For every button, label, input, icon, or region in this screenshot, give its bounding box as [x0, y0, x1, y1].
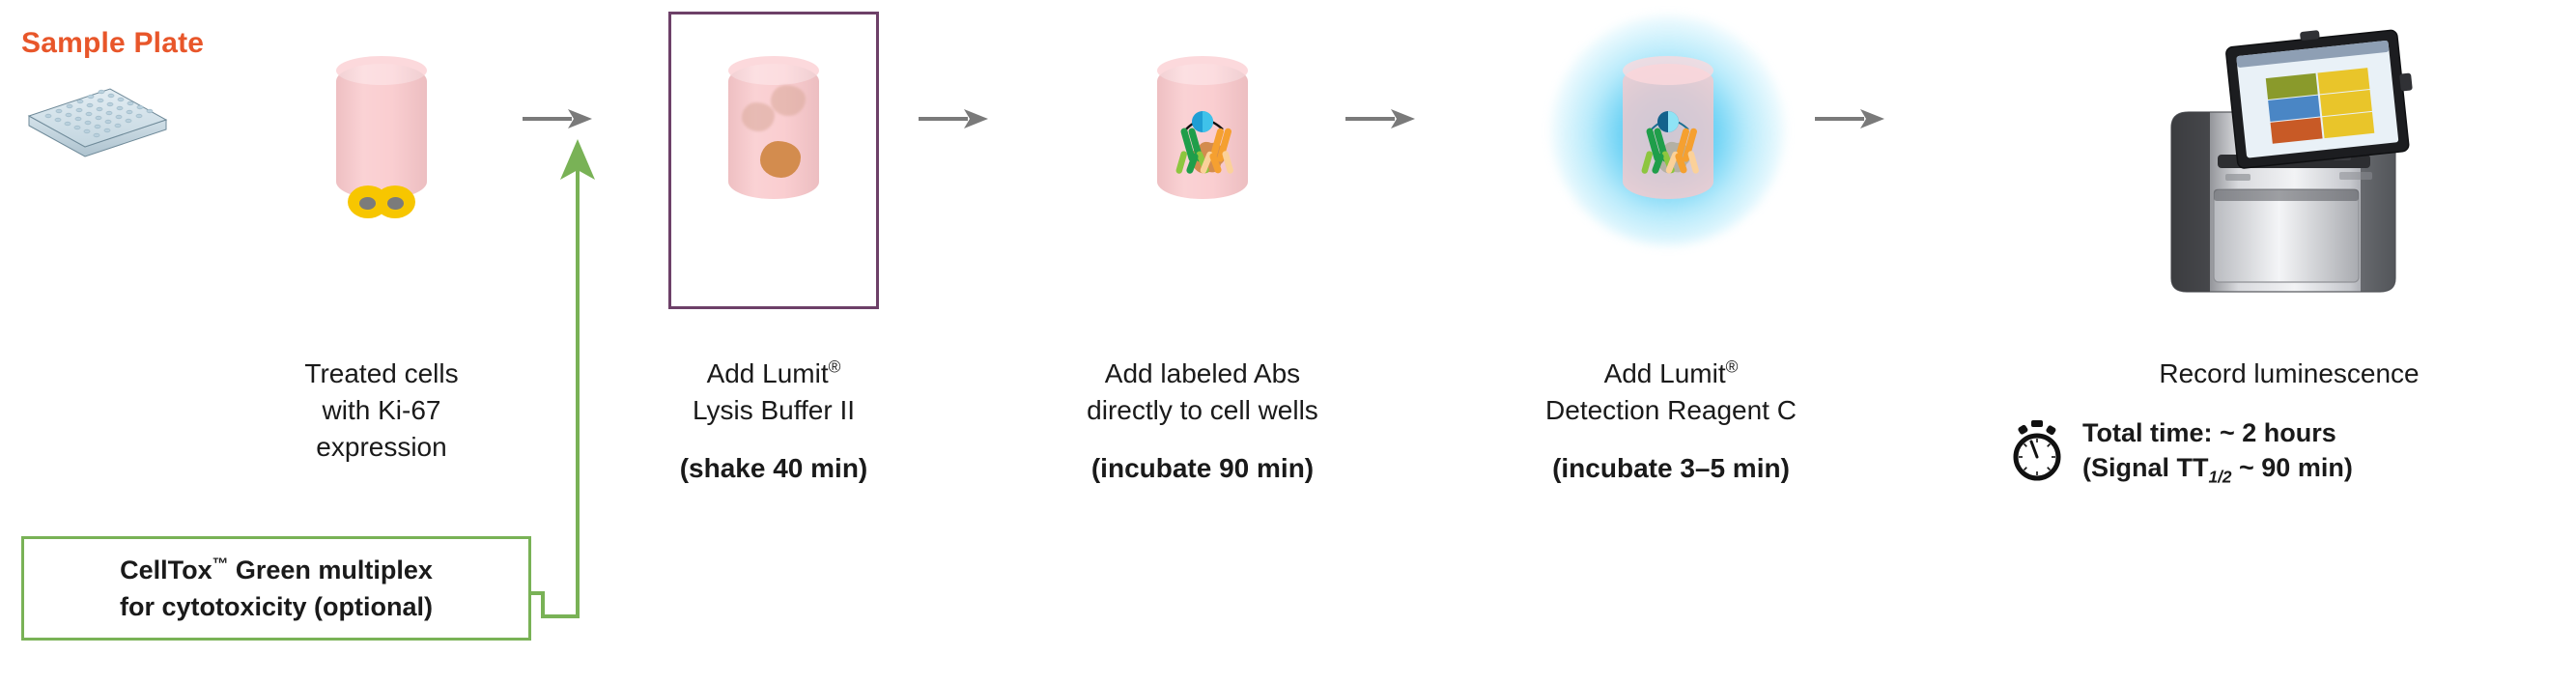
caption-add-detection-reagent: Add Lumit® Detection Reagent C (incubate…	[1512, 356, 1830, 487]
total-time-text: Total time: ~ 2 hours (Signal TT1/2 ~ 90…	[2082, 415, 2353, 485]
total-time-line-2: (Signal TT1/2 ~ 90 min)	[2082, 450, 2353, 485]
caption-line: Add Lumit®	[638, 356, 909, 392]
celltox-line: CellTox™ Green multiplex	[120, 552, 433, 588]
celltox-optional-box: CellTox™ Green multiplex for cytotoxicit…	[21, 536, 531, 641]
caption-line: Add Lumit®	[1512, 356, 1830, 392]
caption-add-labeled-abs: Add labeled Abs directly to cell wells (…	[1053, 356, 1352, 487]
antibody-antigen-complex	[1157, 56, 1248, 199]
celltox-branch-connector	[522, 124, 637, 626]
step-arrow-icon	[918, 106, 989, 131]
well-meniscus	[728, 56, 819, 85]
instrument-touchscreen	[2224, 27, 2419, 169]
glomax-luminometer-icon	[2125, 27, 2444, 307]
caption-line: Treated cells	[246, 356, 517, 392]
caption-timing: (incubate 90 min)	[1053, 450, 1352, 487]
total-time-row: Total time: ~ 2 hours (Signal TT1/2 ~ 90…	[2007, 415, 2353, 485]
stopwatch-icon	[2007, 418, 2067, 482]
well-meniscus	[336, 56, 427, 85]
sample-plate-label: Sample Plate	[21, 27, 204, 60]
caption-line: with Ki-67	[246, 392, 517, 429]
well-lysis	[728, 56, 819, 199]
caption-line: Detection Reagent C	[1512, 392, 1830, 429]
caption-record-luminescence: Record luminescence	[2067, 356, 2511, 392]
total-time-line-1: Total time: ~ 2 hours	[2082, 415, 2353, 450]
caption-add-lysis-buffer: Add Lumit® Lysis Buffer II (shake 40 min…	[638, 356, 909, 487]
antibody-antigen-complex-luminescing	[1623, 56, 1713, 199]
microplate-96-well-icon	[25, 83, 170, 160]
well-detection-reagent	[1623, 56, 1713, 199]
caption-line: Record luminescence	[2159, 358, 2419, 388]
caption-treated-cells: Treated cells with Ki-67 expression	[246, 356, 517, 466]
well-labeled-antibodies	[1157, 56, 1248, 199]
luminescent-subunit-highlight	[1668, 111, 1679, 132]
caption-timing: (shake 40 min)	[638, 450, 909, 487]
well-treated-cells	[336, 56, 427, 199]
caption-line: directly to cell wells	[1053, 392, 1352, 429]
sample-drawer	[2214, 189, 2359, 282]
step-arrow-icon	[1345, 106, 1416, 131]
signal-half-life-subscript: 1/2	[2209, 467, 2232, 486]
caption-line: Lysis Buffer II	[638, 392, 909, 429]
luminescent-subunit-highlight	[1203, 111, 1213, 132]
celltox-line: for cytotoxicity (optional)	[120, 588, 433, 625]
step-arrow-icon	[1814, 106, 1885, 131]
caption-line: expression	[246, 429, 517, 466]
caption-line: Add labeled Abs	[1053, 356, 1352, 392]
caption-timing: (incubate 3–5 min)	[1512, 450, 1830, 487]
